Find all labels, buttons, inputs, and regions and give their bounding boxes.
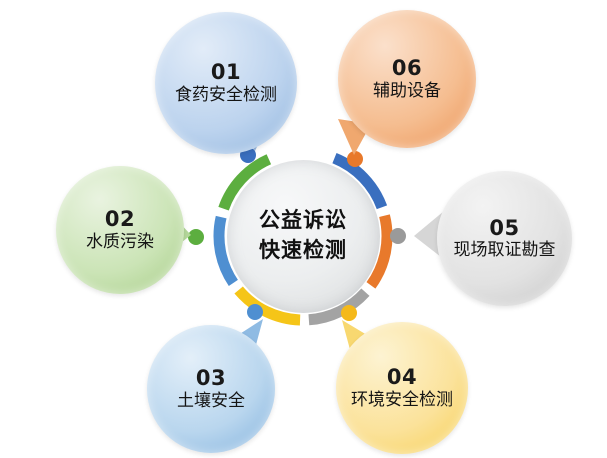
infographic-diagram: 公益诉讼 快速检测 01食药安全检测02水质污染03土壤安全04环境安全检测05… — [0, 0, 607, 458]
bubble-number-02: 02 — [105, 208, 135, 230]
center-title-line-2: 快速检测 — [259, 236, 347, 266]
bubble-number-05: 05 — [489, 217, 519, 239]
bubble-label-05: 现场取证勘查 — [444, 240, 566, 260]
bubble-number-04: 04 — [387, 366, 417, 388]
bubble-label-06: 辅助设备 — [363, 81, 451, 101]
center-node: 公益诉讼 快速检测 — [227, 160, 380, 313]
bubble-number-03: 03 — [196, 367, 226, 389]
bubble-05[interactable]: 05现场取证勘查 — [437, 171, 572, 306]
bubble-label-02: 水质污染 — [76, 232, 164, 252]
bubble-06[interactable]: 06辅助设备 — [338, 10, 476, 148]
bubble-03[interactable]: 03土壤安全 — [147, 325, 275, 453]
bubble-01[interactable]: 01食药安全检测 — [155, 12, 297, 154]
bubble-label-01: 食药安全检测 — [165, 85, 287, 105]
center-title-line-1: 公益诉讼 — [259, 206, 347, 236]
bubble-02[interactable]: 02水质污染 — [56, 166, 184, 294]
bubble-04[interactable]: 04环境安全检测 — [336, 322, 468, 454]
bubble-number-01: 01 — [211, 61, 241, 83]
bubble-label-03: 土壤安全 — [167, 391, 255, 411]
bubble-label-04: 环境安全检测 — [341, 390, 463, 410]
bubble-number-06: 06 — [392, 57, 422, 79]
